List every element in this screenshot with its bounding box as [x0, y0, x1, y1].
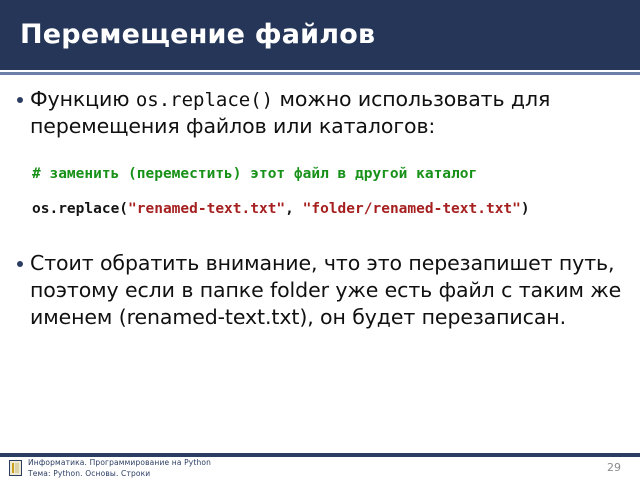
code-call-suffix: ) [521, 201, 530, 217]
code-comment-line: # заменить (переместить) этот файл в дру… [32, 167, 626, 182]
book-icon [9, 460, 22, 476]
bullet-note-text: Стоит обратить внимание, что это перезап… [30, 250, 626, 330]
bullet-dot-icon [14, 250, 30, 267]
bullet-intro-part1: Функцию [30, 87, 136, 111]
footer-course-line: Информатика. Программирование на Python [28, 458, 211, 469]
slide-footer: Информатика. Программирование на Python … [0, 457, 640, 480]
footer-topic-line: Тема: Python. Основы. Строки [28, 469, 211, 480]
bullet-dot-icon [14, 86, 30, 103]
inline-code-os-replace: os.replace() [136, 89, 273, 111]
slide: Перемещение файлов Функцию os.replace() … [0, 0, 640, 480]
bullet-item-note: Стоит обратить внимание, что это перезап… [14, 250, 626, 330]
code-arg-separator: , [285, 201, 302, 217]
slide-header: Перемещение файлов [0, 0, 640, 70]
footer-course-info: Информатика. Программирование на Python … [28, 458, 211, 480]
code-statement-line: os.replace("renamed-text.txt", "folder/r… [32, 202, 626, 217]
code-call-prefix: os.replace( [32, 201, 128, 217]
page-number: 29 [607, 461, 621, 474]
bullet-intro-text: Функцию os.replace() можно использовать … [30, 86, 626, 139]
code-arg-source: "renamed-text.txt" [128, 201, 285, 217]
bullet-item-intro: Функцию os.replace() можно использовать … [14, 86, 626, 139]
code-block: # заменить (переместить) этот файл в дру… [14, 167, 626, 216]
slide-content: Функцию os.replace() можно использовать … [0, 78, 640, 448]
page-title: Перемещение файлов [0, 21, 375, 49]
header-divider [0, 70, 640, 78]
code-arg-destination: "folder/renamed-text.txt" [303, 201, 521, 217]
content-spacer [14, 216, 626, 250]
